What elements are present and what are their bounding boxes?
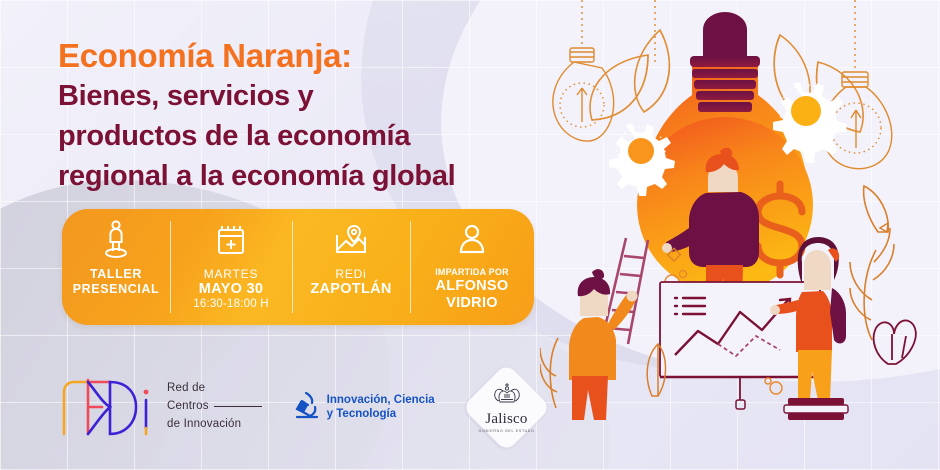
info-location-line2: ZAPOTLÁN bbox=[310, 281, 391, 298]
info-date-weekday: MARTES bbox=[193, 267, 269, 281]
info-speaker-label: IMPARTIDA POR bbox=[435, 267, 509, 278]
redi-logo-icon bbox=[58, 376, 158, 438]
ict-logo-text: Innovación, Ciencia y Tecnología bbox=[327, 393, 435, 422]
jalisco-logo: Jalisco GOBIERNO DEL ESTADO bbox=[465, 365, 549, 449]
redi-logo: Red de Centros de Innovación bbox=[58, 376, 262, 438]
redi-logo-text: Red de Centros de Innovación bbox=[167, 380, 262, 433]
microscope-icon bbox=[294, 390, 320, 425]
event-poster: Economía Naranja: Bienes, servicios y pr… bbox=[0, 0, 940, 470]
headline-line-1: Economía Naranja: bbox=[58, 38, 578, 75]
jalisco-diamond: Jalisco GOBIERNO DEL ESTADO bbox=[462, 362, 551, 451]
info-modality-line1: TALLER bbox=[73, 267, 160, 282]
ict-text-line2: y Tecnología bbox=[327, 407, 435, 421]
info-cell-location: REDi ZAPOTLÁN bbox=[292, 209, 410, 325]
info-cell-speaker: IMPARTIDA POR ALFONSO VIDRIO bbox=[410, 209, 534, 325]
headline-line-2: Bienes, servicios y bbox=[58, 78, 578, 115]
person-standing-icon bbox=[102, 220, 130, 260]
jalisco-crest-icon bbox=[492, 382, 522, 406]
info-speaker-first: ALFONSO bbox=[435, 278, 509, 295]
user-icon bbox=[458, 220, 486, 260]
headline-line-4: regional a la economía global bbox=[58, 158, 578, 195]
info-date-day: MAYO 30 bbox=[193, 281, 269, 298]
left-content: Economía Naranja: Bienes, servicios y pr… bbox=[0, 0, 600, 470]
ict-text-line1: Innovación, Ciencia bbox=[327, 393, 435, 407]
redi-text-line2: Centros bbox=[167, 400, 209, 412]
map-pin-icon bbox=[334, 220, 368, 260]
info-cell-date: MARTES MAYO 30 16:30-18:00 H bbox=[170, 209, 292, 325]
ict-logo: Innovación, Ciencia y Tecnología bbox=[294, 390, 435, 425]
lightbulb-economy-illustration bbox=[540, 0, 940, 470]
redi-text-line3: de Innovación bbox=[167, 416, 262, 434]
info-modality-line2: PRESENCIAL bbox=[73, 282, 160, 297]
headline-line-3: productos de la economía bbox=[58, 118, 578, 155]
info-location-line1: REDi bbox=[310, 267, 391, 281]
redi-text-rule bbox=[214, 406, 262, 407]
jalisco-subtitle: GOBIERNO DEL ESTADO bbox=[475, 429, 538, 433]
info-date-time: 16:30-18:00 H bbox=[193, 298, 269, 312]
calendar-plus-icon bbox=[216, 220, 246, 260]
info-speaker-last: VIDRIO bbox=[435, 295, 509, 312]
jalisco-name: Jalisco bbox=[475, 411, 538, 428]
page-title: Economía Naranja: Bienes, servicios y pr… bbox=[58, 38, 578, 195]
redi-text-line1: Red de bbox=[167, 380, 262, 398]
info-cell-modality: TALLER PRESENCIAL bbox=[62, 209, 170, 325]
logo-row: Red de Centros de Innovación bbox=[58, 362, 558, 452]
event-info-bar: TALLER PRESENCIAL MARTES MAYO 30 bbox=[62, 209, 534, 325]
